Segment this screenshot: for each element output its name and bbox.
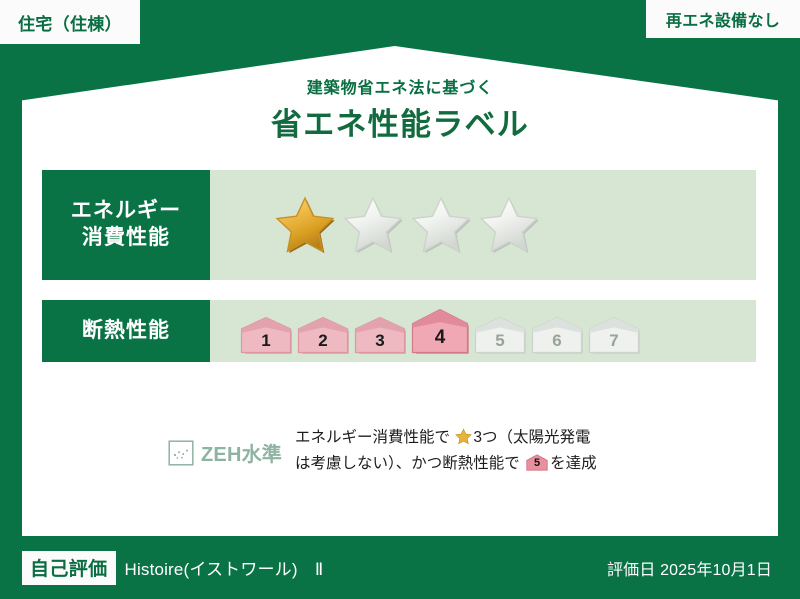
building-type-tag: 住宅（住棟） xyxy=(0,0,140,44)
label-subtitle: 建築物省エネ法に基づく xyxy=(0,74,800,98)
star-icon-empty xyxy=(478,194,540,256)
zeh-label: ZEH水準 xyxy=(201,438,282,467)
insulation-level-scale: 1234567 xyxy=(210,308,640,354)
insulation-level-5-number: 5 xyxy=(474,331,526,351)
footer-left-group: 自己評価 Histoire(イストワール) Ⅱ xyxy=(0,551,323,585)
renewable-equipment-tag: 再エネ設備なし xyxy=(646,0,800,38)
project-name: Histoire(イストワール) Ⅱ xyxy=(125,555,324,580)
insulation-level-4-badge: 4 xyxy=(411,308,469,354)
insulation-level-7-number: 7 xyxy=(588,331,640,351)
insulation-level-5-badge: 5 xyxy=(474,316,526,354)
insulation-level-2-badge: 2 xyxy=(297,316,349,354)
assessment-type-badge: 自己評価 xyxy=(22,551,116,585)
zeh-text-part3: は考慮しない）、かつ断熱性能で xyxy=(295,455,520,472)
star-icon-empty xyxy=(410,194,472,256)
energy-label-line2: 消費性能 xyxy=(82,225,170,252)
insulation-level-3-badge: 3 xyxy=(354,316,406,354)
insulation-level-6-badge: 6 xyxy=(531,316,583,354)
insulation-level-5-inline-number: 5 xyxy=(526,454,548,472)
insulation-level-4-number: 4 xyxy=(411,327,469,349)
insulation-performance-body: 1234567 xyxy=(210,300,756,362)
star-icon-filled xyxy=(274,194,336,256)
zeh-standard-note: ZEH水準 エネルギー消費性能で 3つ（太陽光発電 は考慮しない）、かつ断熱性能… xyxy=(168,425,597,478)
label-title: 省エネ性能ラベル xyxy=(0,99,800,144)
footer: 自己評価 Histoire(イストワール) Ⅱ 評価日 2025年10月1日 xyxy=(0,536,800,599)
zeh-description: エネルギー消費性能で 3つ（太陽光発電 は考慮しない）、かつ断熱性能で 5 を達… xyxy=(295,425,597,478)
energy-label-line1: エネルギー xyxy=(71,198,181,225)
insulation-level-2-number: 2 xyxy=(297,331,349,351)
insulation-level-1-badge: 1 xyxy=(240,316,292,354)
zeh-text-part1: エネルギー消費性能で xyxy=(295,429,450,446)
energy-performance-label: エネルギー 消費性能 xyxy=(42,170,210,280)
energy-performance-body xyxy=(210,170,756,280)
zeh-mark: ZEH水準 xyxy=(168,425,282,467)
star-icon xyxy=(455,428,472,445)
insulation-level-6-number: 6 xyxy=(531,331,583,351)
insulation-label-text: 断熱性能 xyxy=(82,318,170,345)
energy-label-card: 住宅（住棟） 再エネ設備なし 建築物省エネ法に基づく 省エネ性能ラベル ハウスコ… xyxy=(0,0,800,599)
zeh-text-part2: 3つ（太陽光発電 xyxy=(473,429,590,446)
insulation-level-3-number: 3 xyxy=(354,331,406,351)
insulation-level-1-number: 1 xyxy=(240,331,292,351)
star-rating xyxy=(210,194,540,256)
star-icon-empty xyxy=(342,194,404,256)
insulation-performance-label: 断熱性能 xyxy=(42,300,210,362)
evaluation-date: 評価日 2025年10月1日 xyxy=(607,556,800,580)
insulation-level-7-badge: 7 xyxy=(588,316,640,354)
insulation-level-5-inline-badge: 5 xyxy=(526,454,548,471)
insulation-performance-row: 断熱性能 1234567 xyxy=(42,300,756,362)
sparkle-square-icon xyxy=(168,440,194,466)
zeh-text-part4: を達成 xyxy=(550,455,597,472)
energy-performance-row: エネルギー 消費性能 xyxy=(42,170,756,280)
